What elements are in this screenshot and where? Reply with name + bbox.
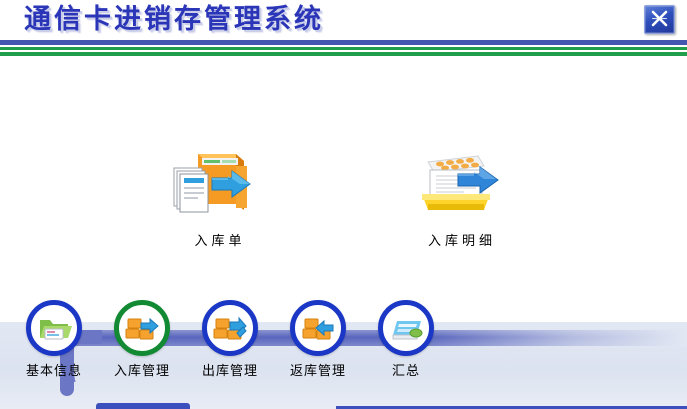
workspace-canvas: 入库单 xyxy=(0,56,687,322)
nav-label: 返库管理 xyxy=(272,360,364,379)
sidebar-item-outbound-management[interactable]: 出库管理 xyxy=(184,300,276,379)
nav-ring xyxy=(378,300,434,356)
nav-rail-fade xyxy=(430,330,687,346)
shortcut-inbound-detail[interactable]: 入库明细 xyxy=(392,144,532,249)
inbound-order-box-icon xyxy=(150,144,290,222)
sidebar-item-return-management[interactable]: 返库管理 xyxy=(272,300,364,379)
close-x-icon xyxy=(649,9,670,28)
nav-label: 入库管理 xyxy=(96,360,188,379)
page-title: 通信卡进销存管理系统 xyxy=(24,3,324,37)
nav-ring xyxy=(114,300,170,356)
nav-ring xyxy=(202,300,258,356)
nav-label: 基本信息 xyxy=(8,360,100,379)
sidebar-item-inbound-management[interactable]: 入库管理 xyxy=(96,300,188,379)
boxes-out-arrow-icon xyxy=(207,305,253,351)
close-button[interactable] xyxy=(644,5,675,34)
report-chart-icon xyxy=(383,305,429,351)
nav-label: 出库管理 xyxy=(184,360,276,379)
shortcut-label: 入库明细 xyxy=(392,230,532,249)
bottom-tab-partial[interactable] xyxy=(96,403,190,409)
boxes-return-arrow-icon xyxy=(295,305,341,351)
nav-ring xyxy=(26,300,82,356)
sidebar-item-basic-info[interactable]: 基本信息 xyxy=(8,300,100,379)
nav-ring xyxy=(290,300,346,356)
folder-book-icon xyxy=(31,305,77,351)
app-header: 通信卡进销存管理系统 xyxy=(0,0,687,40)
nav-label: 汇总 xyxy=(360,360,452,379)
application-window: 通信卡进销存管理系统 xyxy=(0,0,687,409)
boxes-in-arrow-icon xyxy=(119,305,165,351)
shortcut-inbound-order[interactable]: 入库单 xyxy=(150,144,290,249)
shortcut-label: 入库单 xyxy=(150,230,290,249)
sidebar-item-summary[interactable]: 汇总 xyxy=(360,300,452,379)
inbound-detail-tray-icon xyxy=(392,144,532,222)
